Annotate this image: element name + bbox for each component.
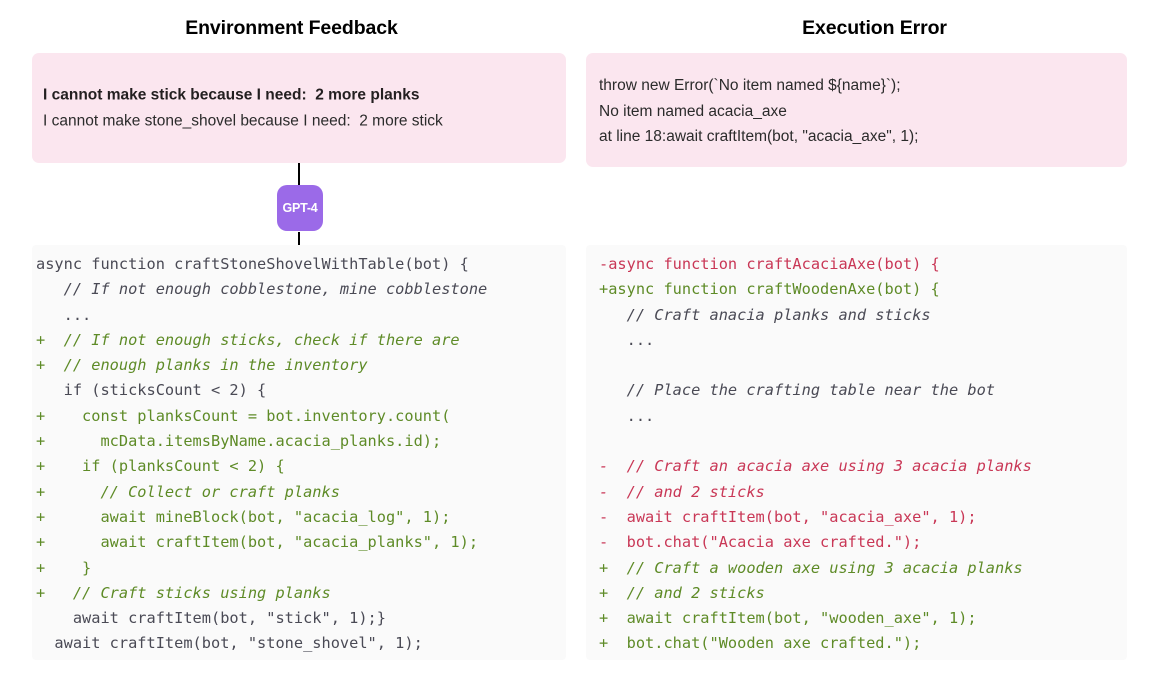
execution-error-lines: throw new Error(`No item named ${name}`)… xyxy=(599,73,1117,150)
error-line: at line 18:await craftItem(bot, "acacia_… xyxy=(599,124,1117,150)
code-line-removed: - // Craft an acacia axe using 3 acacia … xyxy=(586,454,1127,479)
code-line-added: + // enough planks in the inventory xyxy=(32,353,566,378)
right-code-block: -async function craftAcaciaAxe(bot) { +a… xyxy=(586,245,1127,660)
environment-feedback-box: I cannot make stick because I need: 2 mo… xyxy=(32,53,566,163)
code-line-added: + if (planksCount < 2) { xyxy=(32,454,566,479)
code-line-removed: - await craftItem(bot, "acacia_axe", 1); xyxy=(586,505,1127,530)
left-code-block: async function craftStoneShovelWithTable… xyxy=(32,245,566,660)
code-line: // Craft anacia planks and sticks xyxy=(586,303,1127,328)
code-line-added: + // and 2 sticks xyxy=(586,581,1127,606)
code-line: } xyxy=(32,657,566,660)
code-line: // Place the crafting table near the bot xyxy=(586,378,1127,403)
code-line-added: + const planksCount = bot.inventory.coun… xyxy=(32,404,566,429)
code-line-blank xyxy=(586,353,1127,378)
feedback-line: I cannot make stick because I need: 2 mo… xyxy=(43,83,556,109)
code-line: ... xyxy=(32,303,566,328)
code-line: // If not enough cobblestone, mine cobbl… xyxy=(32,277,566,302)
code-line: ... xyxy=(586,328,1127,353)
page-title-environment-feedback: Environment Feedback xyxy=(0,16,583,40)
code-line: async function craftStoneShovelWithTable… xyxy=(32,252,566,277)
left-column: Environment Feedback I cannot make stick… xyxy=(0,0,583,677)
code-line-added: + // Craft a wooden axe using 3 acacia p… xyxy=(586,556,1127,581)
code-line-added: + // If not enough sticks, check if ther… xyxy=(32,328,566,353)
code-line-added: + mcData.itemsByName.acacia_planks.id); xyxy=(32,429,566,454)
code-line-added: +async function craftWoodenAxe(bot) { xyxy=(586,277,1127,302)
right-column: Execution Error throw new Error(`No item… xyxy=(583,0,1166,677)
error-line: No item named acacia_axe xyxy=(599,99,1117,125)
diagram-root: Environment Feedback I cannot make stick… xyxy=(0,0,1166,677)
code-line-blank xyxy=(586,429,1127,454)
code-line-added: + bot.chat("Wooden axe crafted."); xyxy=(586,631,1127,656)
code-line-removed: - bot.chat("Acacia axe crafted."); xyxy=(586,530,1127,555)
gpt4-badge[interactable]: GPT-4 xyxy=(277,185,323,231)
code-line: await craftItem(bot, "stone_shovel", 1); xyxy=(32,631,566,656)
arrow-stem-top xyxy=(298,163,300,187)
code-line-added: + // Craft sticks using planks xyxy=(32,581,566,606)
code-line-removed: - // and 2 sticks xyxy=(586,480,1127,505)
code-line-added: + await mineBlock(bot, "acacia_log", 1); xyxy=(32,505,566,530)
code-line: if (sticksCount < 2) { xyxy=(32,378,566,403)
page-title-execution-error: Execution Error xyxy=(583,16,1166,40)
code-line-removed: -async function craftAcaciaAxe(bot) { xyxy=(586,252,1127,277)
feedback-line: I cannot make stone_shovel because I nee… xyxy=(43,108,556,134)
code-line-added: + // Collect or craft planks xyxy=(32,480,566,505)
environment-feedback-lines: I cannot make stick because I need: 2 mo… xyxy=(43,83,556,134)
code-line-added: + } xyxy=(32,556,566,581)
code-line: ... xyxy=(586,404,1127,429)
code-line: } xyxy=(586,657,1127,660)
code-line-added: + await craftItem(bot, "acacia_planks", … xyxy=(32,530,566,555)
error-line: throw new Error(`No item named ${name}`)… xyxy=(599,73,1117,99)
code-line-added: + await craftItem(bot, "wooden_axe", 1); xyxy=(586,606,1127,631)
execution-error-box: throw new Error(`No item named ${name}`)… xyxy=(586,53,1127,167)
code-line: await craftItem(bot, "stick", 1);} xyxy=(32,606,566,631)
